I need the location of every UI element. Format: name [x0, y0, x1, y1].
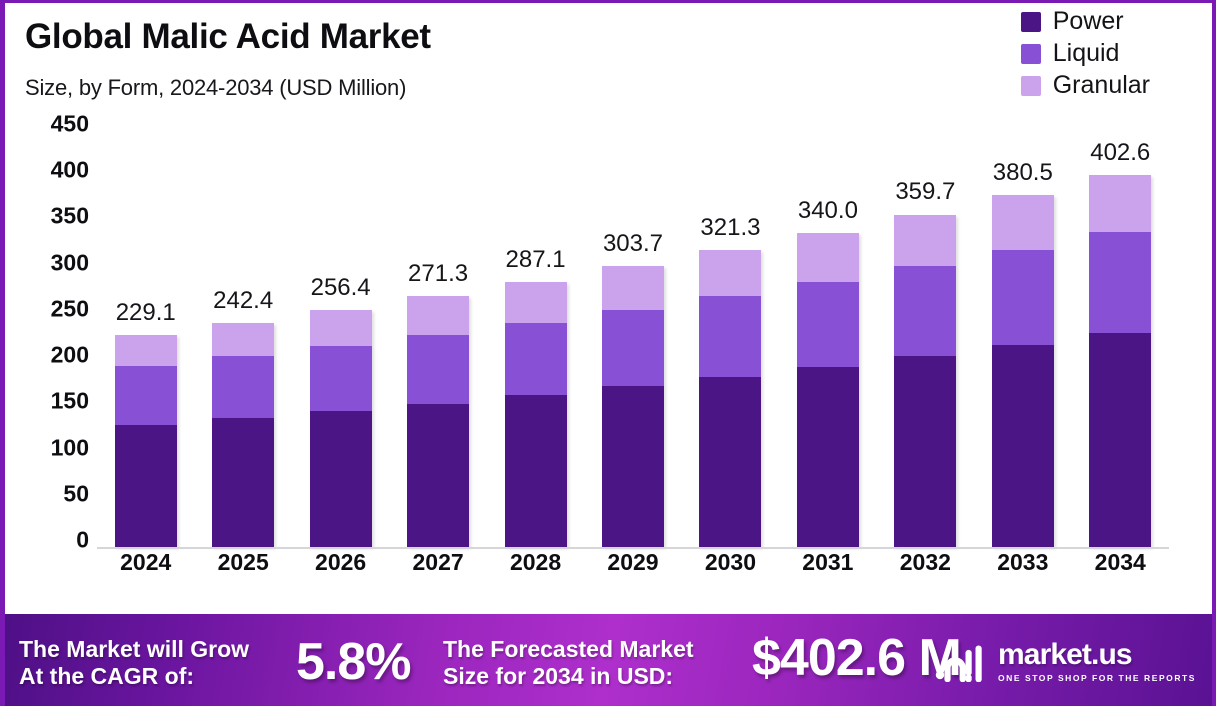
chart-infographic: Global Malic Acid Market Size, by Form, … [0, 0, 1216, 706]
bar-column-2029[interactable]: 303.72029 [584, 131, 681, 547]
bar-segment-liquid[interactable] [212, 356, 274, 417]
x-axis-label-2030: 2030 [705, 549, 756, 576]
legend-item-liquid[interactable]: Liquid [1021, 41, 1120, 66]
bar-segment-power[interactable] [797, 367, 859, 547]
legend-swatch-icon [1021, 12, 1041, 32]
bar-group: 229.12024242.42025256.42026271.32027287.… [97, 131, 1169, 547]
x-axis-label-2027: 2027 [412, 549, 463, 576]
y-axis-tick: 100 [51, 434, 89, 461]
bar-segment-granular[interactable] [797, 233, 859, 282]
bar-segment-liquid[interactable] [797, 282, 859, 367]
bar-stack[interactable] [602, 266, 664, 547]
bar-value-label: 303.7 [603, 230, 663, 258]
page-title: Global Malic Acid Market [25, 17, 431, 57]
cagr-label-line2: At the CAGR of: [19, 663, 194, 689]
bar-segment-granular[interactable] [115, 335, 177, 366]
bar-stack[interactable] [797, 233, 859, 547]
bar-segment-liquid[interactable] [115, 366, 177, 424]
x-axis-label-2033: 2033 [997, 549, 1048, 576]
bar-segment-power[interactable] [407, 404, 469, 547]
bar-value-label: 380.5 [993, 159, 1053, 187]
y-axis-tick: 250 [51, 295, 89, 322]
bar-column-2025[interactable]: 242.42025 [194, 131, 291, 547]
x-axis-label-2029: 2029 [607, 549, 658, 576]
bar-segment-power[interactable] [699, 377, 761, 547]
y-axis-tick: 200 [51, 342, 89, 369]
chart-legend: PowerLiquidGranular [1021, 9, 1150, 98]
x-axis-label-2034: 2034 [1095, 549, 1146, 576]
bar-segment-power[interactable] [894, 356, 956, 547]
bar-segment-granular[interactable] [992, 195, 1054, 250]
bar-column-2028[interactable]: 287.12028 [487, 131, 584, 547]
page-subtitle: Size, by Form, 2024-2034 (USD Million) [25, 75, 406, 101]
brand-logo[interactable]: market.us ONE STOP SHOP FOR THE REPORTS [934, 640, 1196, 683]
bar-stack[interactable] [992, 195, 1054, 547]
plot-area: 229.12024242.42025256.42026271.32027287.… [97, 131, 1169, 549]
forecast-size-value: $402.6 M [752, 632, 961, 684]
bar-column-2030[interactable]: 321.32030 [682, 131, 779, 547]
bar-column-2031[interactable]: 340.02031 [779, 131, 876, 547]
bar-stack[interactable] [212, 323, 274, 547]
x-axis-line [97, 547, 1169, 549]
y-axis-tick: 450 [51, 111, 89, 138]
y-axis-tick: 0 [76, 527, 89, 554]
y-axis-tick: 350 [51, 203, 89, 230]
bar-stack[interactable] [1089, 175, 1151, 547]
bar-segment-granular[interactable] [505, 282, 567, 323]
y-axis-tick: 300 [51, 249, 89, 276]
forecast-size-label-line1: The Forecasted Market [443, 636, 694, 662]
bar-segment-power[interactable] [310, 411, 372, 547]
bar-value-label: 256.4 [311, 274, 371, 302]
x-axis-label-2024: 2024 [120, 549, 171, 576]
brand-text: market.us ONE STOP SHOP FOR THE REPORTS [998, 640, 1196, 683]
bar-column-2026[interactable]: 256.42026 [292, 131, 389, 547]
legend-swatch-icon [1021, 44, 1041, 64]
legend-label: Power [1053, 9, 1124, 34]
legend-item-power[interactable]: Power [1021, 9, 1124, 34]
footer-banner: The Market will Grow At the CAGR of: 5.8… [5, 614, 1212, 706]
bar-column-2032[interactable]: 359.72032 [877, 131, 974, 547]
bar-value-label: 340.0 [798, 197, 858, 225]
bar-segment-power[interactable] [505, 395, 567, 547]
y-axis-tick: 50 [63, 480, 89, 507]
bar-segment-granular[interactable] [310, 310, 372, 346]
bar-value-label: 359.7 [895, 178, 955, 206]
bar-segment-power[interactable] [115, 425, 177, 547]
bar-value-label: 229.1 [116, 299, 176, 327]
bar-column-2024[interactable]: 229.12024 [97, 131, 194, 547]
x-axis-label-2026: 2026 [315, 549, 366, 576]
x-axis-label-2025: 2025 [218, 549, 269, 576]
cagr-label-line1: The Market will Grow [19, 636, 249, 662]
y-axis-tick: 400 [51, 157, 89, 184]
bar-segment-liquid[interactable] [894, 266, 956, 356]
bar-segment-granular[interactable] [602, 266, 664, 310]
bar-segment-granular[interactable] [894, 215, 956, 267]
legend-label: Granular [1053, 73, 1150, 98]
cagr-value: 5.8% [296, 636, 411, 688]
bar-value-label: 271.3 [408, 260, 468, 288]
x-axis-label-2028: 2028 [510, 549, 561, 576]
bar-segment-granular[interactable] [699, 250, 761, 296]
legend-label: Liquid [1053, 41, 1120, 66]
bar-value-label: 287.1 [506, 246, 566, 274]
bar-stack[interactable] [699, 250, 761, 547]
x-axis-label-2031: 2031 [802, 549, 853, 576]
bar-segment-granular[interactable] [407, 296, 469, 335]
bar-segment-power[interactable] [1089, 333, 1151, 547]
market-us-logo-icon [934, 642, 988, 682]
bar-segment-granular[interactable] [212, 323, 274, 357]
bar-segment-liquid[interactable] [310, 346, 372, 411]
bar-stack[interactable] [310, 310, 372, 547]
bar-value-label: 321.3 [700, 214, 760, 242]
bar-value-label: 242.4 [213, 287, 273, 315]
x-axis-label-2032: 2032 [900, 549, 951, 576]
bar-column-2033[interactable]: 380.52033 [974, 131, 1071, 547]
brand-name: market.us [998, 640, 1196, 670]
legend-item-granular[interactable]: Granular [1021, 73, 1150, 98]
bar-column-2034[interactable]: 402.62034 [1072, 131, 1169, 547]
forecast-size-label-line2: Size for 2034 in USD: [443, 663, 673, 689]
bar-segment-granular[interactable] [1089, 175, 1151, 232]
forecast-size-label: The Forecasted Market Size for 2034 in U… [443, 636, 694, 690]
bar-stack[interactable] [115, 335, 177, 547]
bar-segment-liquid[interactable] [407, 335, 469, 403]
bar-segment-power[interactable] [992, 345, 1054, 547]
bar-segment-liquid[interactable] [992, 250, 1054, 345]
bar-column-2027[interactable]: 271.32027 [389, 131, 486, 547]
bar-segment-liquid[interactable] [602, 310, 664, 386]
bar-stack[interactable] [894, 215, 956, 548]
bar-value-label: 402.6 [1090, 139, 1150, 167]
y-axis: 050100150200250300350400450 [23, 119, 89, 545]
bar-segment-power[interactable] [602, 386, 664, 547]
cagr-label: The Market will Grow At the CAGR of: [19, 636, 249, 690]
bar-segment-power[interactable] [212, 418, 274, 547]
bar-stack[interactable] [407, 296, 469, 547]
y-axis-tick: 150 [51, 388, 89, 415]
bar-segment-liquid[interactable] [1089, 232, 1151, 333]
brand-tagline: ONE STOP SHOP FOR THE REPORTS [998, 673, 1196, 683]
bar-segment-liquid[interactable] [505, 323, 567, 395]
bar-stack[interactable] [505, 282, 567, 547]
bar-segment-liquid[interactable] [699, 296, 761, 376]
legend-swatch-icon [1021, 76, 1041, 96]
